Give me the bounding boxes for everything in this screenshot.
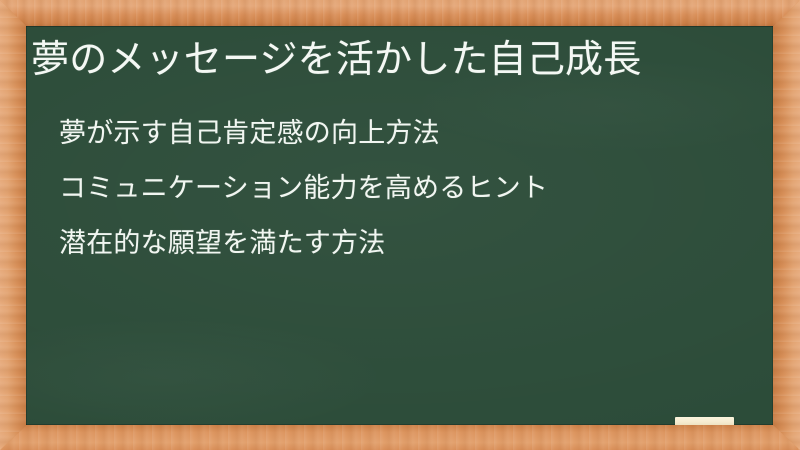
- chalk-stick-icon: [675, 417, 734, 425]
- slide-title: 夢のメッセージを活かした自己成長: [31, 32, 641, 86]
- bullet-item-1: 夢が示す自己肯定感の向上方法: [59, 106, 548, 161]
- frame-plank-right: [773, 0, 800, 450]
- chalkboard-slide: 夢のメッセージを活かした自己成長 夢が示す自己肯定感の向上方法 コミュニケーショ…: [0, 0, 800, 450]
- bullet-item-2: コミュニケーション能力を高めるヒント: [59, 161, 548, 216]
- chalkboard-surface: 夢のメッセージを活かした自己成長 夢が示す自己肯定感の向上方法 コミュニケーショ…: [26, 26, 773, 425]
- frame-plank-bottom: [0, 425, 800, 450]
- bullet-item-3: 潜在的な願望を満たす方法: [59, 216, 548, 271]
- slide-content: 夢のメッセージを活かした自己成長 夢が示す自己肯定感の向上方法 コミュニケーショ…: [26, 26, 773, 425]
- bullet-list: 夢が示す自己肯定感の向上方法 コミュニケーション能力を高めるヒント 潜在的な願望…: [59, 106, 548, 271]
- frame-plank-top: [0, 0, 800, 27]
- frame-plank-left: [0, 0, 27, 450]
